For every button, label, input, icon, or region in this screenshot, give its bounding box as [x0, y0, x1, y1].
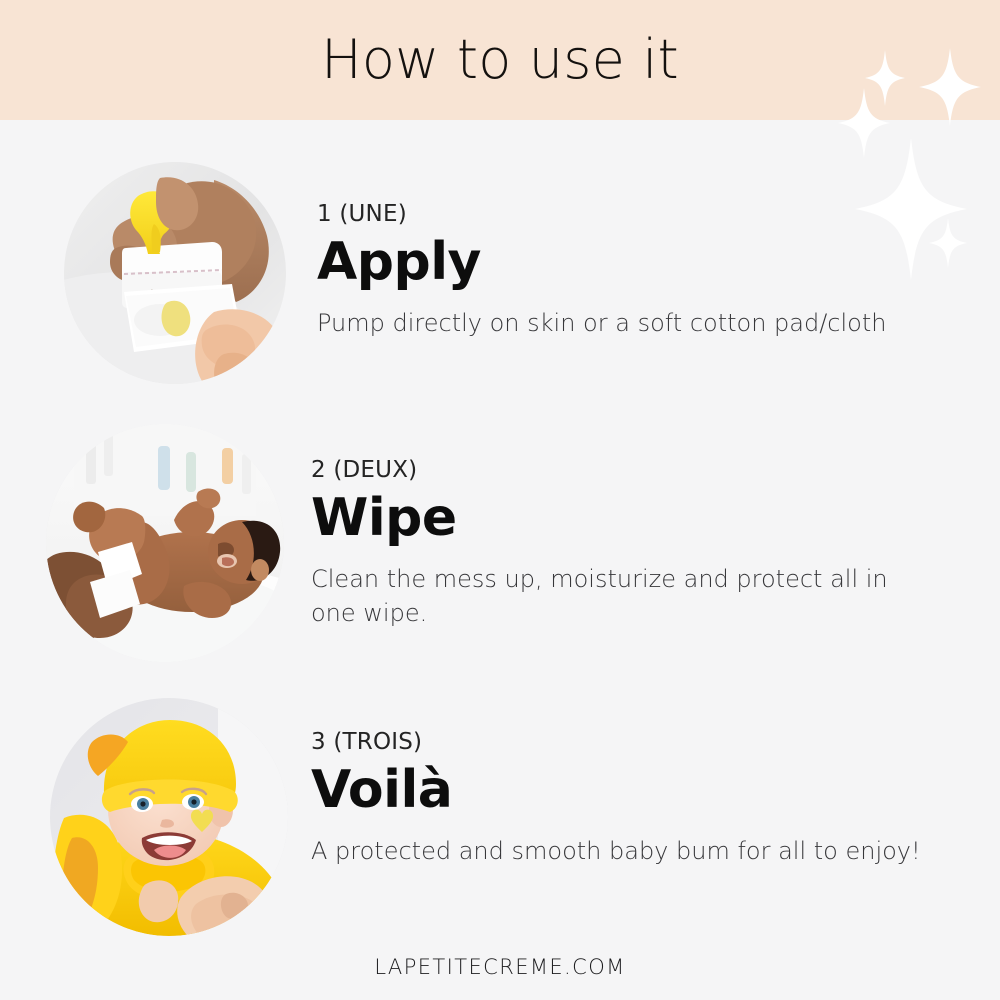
step-1-title: Apply	[317, 233, 1000, 291]
step-1-index: 1 (UNE)	[317, 202, 1000, 227]
step-1-text: 1 (UNE) Apply Pump directly on skin or a…	[317, 142, 1000, 340]
step-2-index: 2 (DEUX)	[311, 458, 1000, 483]
website-url[interactable]: LAPETITECREME.COM	[374, 955, 625, 979]
footer: LAPETITECREME.COM	[0, 955, 1000, 979]
header-banner: How to use it	[0, 0, 1000, 120]
step-3-description: A protected and smooth baby bum for all …	[311, 834, 931, 868]
step-2-text: 2 (DEUX) Wipe Clean the mess up, moistur…	[311, 410, 1000, 630]
page-title: How to use it	[0, 0, 1000, 120]
step-3-photo	[50, 698, 288, 936]
step-3-index: 3 (TROIS)	[311, 730, 1000, 755]
step-item-wipe: 2 (DEUX) Wipe Clean the mess up, moistur…	[0, 410, 1000, 662]
step-2-description: Clean the mess up, moisturize and protec…	[311, 562, 931, 630]
step-item-apply: La Petite	[0, 142, 1000, 384]
step-item-voila: 3 (TROIS) Voilà A protected and smooth b…	[0, 682, 1000, 936]
how-to-use-it-infographic: How to use it	[0, 0, 1000, 1000]
baby-being-wiped-image	[46, 424, 284, 662]
smiling-baby-image	[50, 698, 288, 936]
step-3-title: Voilà	[311, 761, 1000, 819]
step-1-photo: La Petite	[64, 162, 286, 384]
step-2-photo	[46, 424, 284, 662]
step-2-title: Wipe	[311, 489, 1000, 547]
hands-pumping-bottle-image: La Petite	[64, 162, 286, 384]
step-1-description: Pump directly on skin or a soft cotton p…	[317, 306, 937, 340]
step-3-text: 3 (TROIS) Voilà A protected and smooth b…	[311, 682, 1000, 868]
